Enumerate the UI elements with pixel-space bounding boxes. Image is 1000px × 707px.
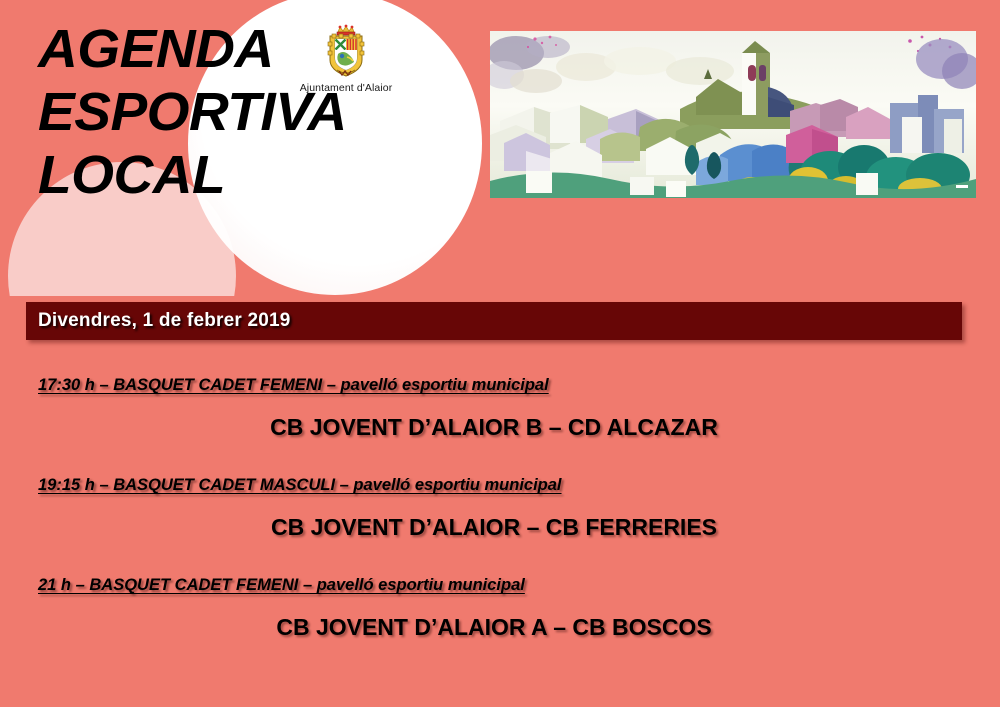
events-list: 17:30 h – BASQUET CADET FEMENI – pavelló… [0,372,1000,656]
event-item: 19:15 h – BASQUET CADET MASCULI – pavell… [0,472,1000,544]
event-match: CB JOVENT D’ALAIOR – CB FERRERIES [0,510,1000,544]
event-heading: 21 h – BASQUET CADET FEMENI – pavelló es… [0,572,1000,598]
event-match: CB JOVENT D’ALAIOR A – CB BOSCOS [0,610,1000,644]
townscape-illustration [490,31,976,198]
ajuntament-logo: Ajuntament d'Alaior [292,24,400,94]
date-bar: Divendres, 1 de febrer 2019 [26,302,962,340]
ajuntament-caption: Ajuntament d'Alaior [292,82,400,94]
event-heading: 17:30 h – BASQUET CADET FEMENI – pavelló… [0,372,1000,398]
event-heading: 19:15 h – BASQUET CADET MASCULI – pavell… [0,472,1000,498]
poster-canvas: AGENDA ESPORTIVA LOCAL [0,0,1000,707]
spacer [0,456,1000,472]
spacer [0,556,1000,572]
event-item: 21 h – BASQUET CADET FEMENI – pavelló es… [0,572,1000,644]
date-text: Divendres, 1 de febrer 2019 [26,310,291,332]
alaior-townscape-image [490,31,976,198]
event-item: 17:30 h – BASQUET CADET FEMENI – pavelló… [0,372,1000,444]
coat-of-arms-icon [321,24,371,80]
title-line-3: LOCAL [38,144,347,207]
event-match: CB JOVENT D’ALAIOR B – CD ALCAZAR [0,410,1000,444]
